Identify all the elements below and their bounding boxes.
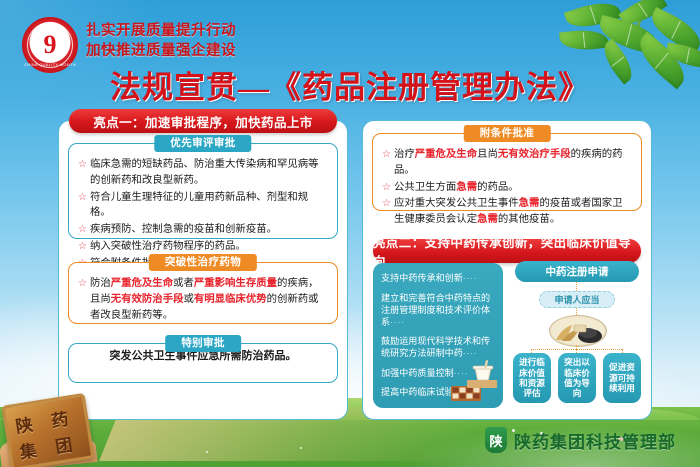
list-item: 支持中药传承和创新···· [381,272,495,285]
herbal-medicine-icon [549,315,607,347]
star-icon: ☆ [78,157,87,189]
slogan-line-1: 扎实开展质量提升行动 [86,22,236,42]
card-special-approval: 特别审批 突发公共卫生事件应急所需防治药品。 [68,343,338,383]
list-item: 建立和完善符合中药特点的注册管理制度和技术评价体系···· [381,292,495,329]
company-logo-icon: 陕 [485,427,507,453]
list-item: 鼓励运用现代科学技术和传统研究方法研制中药···· [381,335,495,360]
card-priority-review-header: 优先审评审批 [154,135,251,152]
star-icon: ☆ [382,180,391,196]
star-icon: ☆ [78,239,87,255]
list-item: ☆ 符合儿童生理特征的儿童用药新品种、剂型和规格。 [78,190,328,222]
star-icon: ☆ [78,190,87,222]
list-item-rich-text: 应对重大突发公共卫生事件急需的疫苗或者国家卫生健康委员会认定急需的其他疫苗。 [394,196,632,228]
highlight-ribbon-two: 亮点二：支持中药传承创新，突出临床价值导向 [373,239,641,263]
list-item: ☆ 临床急需的短缺药品、防治重大传染病和罕见病等的创新药和改良型新药。 [78,157,328,189]
page-title: 法规宣贯—《药品注册管理办法》 [0,62,700,107]
card-conditional-approval: 附条件批准 ☆ 治疗严重危及生命且尚无有效治疗手段的疾病的药品。 ☆ 公共卫生方… [372,133,642,211]
card-breakthrough-therapy-body: ☆ 防治严重危及生命或者严重影响生存质量的疾病，且尚无有效防治手段或有明显临床优… [69,263,337,330]
flow-leaf-sustainable-resources: 促进资源可持续利用 [603,353,641,403]
star-icon: ☆ [78,222,87,238]
list-item-text: 纳入突破性治疗药物程序的药品。 [90,239,328,255]
flow-leaf-clinical-value-oriented: 突出以临床价值为导向 [558,353,596,403]
slogan-block: 扎实开展质量提升行动 加快推进质量强企建设 [86,22,236,61]
left-panel: 亮点一：加速审批程序，加快药品上市 优先审评审批 ☆ 临床急需的短缺药品、防治重… [58,120,348,420]
list-item: ☆ 纳入突破性治疗药物程序的药品。 [78,239,328,255]
list-item-rich-text: 治疗严重危及生命且尚无有效治疗手段的疾病的药品。 [394,147,632,179]
highlight-ribbon-one-label: 亮点一：加速审批程序，加快药品上市 [93,112,312,131]
card-special-approval-header: 特别审批 [165,335,241,352]
list-item: ☆ 治疗严重危及生命且尚无有效治疗手段的疾病的药品。 [382,147,632,179]
list-item-text: 符合儿童生理特征的儿童用药新品种、剂型和规格。 [90,190,328,222]
right-panel: 附条件批准 ☆ 治疗严重危及生命且尚无有效治疗手段的疾病的药品。 ☆ 公共卫生方… [362,120,652,420]
footer-organization-name: 陕药集团科技管理部 [514,428,676,453]
card-breakthrough-therapy: 突破性治疗药物 ☆ 防治严重危及生命或者严重影响生存质量的疾病，且尚无有效防治手… [68,262,338,324]
list-item: ☆ 疾病预防、控制急需的疫苗和创新疫苗。 [78,222,328,238]
list-item: ☆ 防治严重危及生命或者严重影响生存质量的疾病，且尚无有效防治手段或有明显临床优… [78,276,328,323]
herbal-medicine-icon [449,360,499,404]
footer: 陕 陕药集团科技管理部 [485,427,676,453]
star-icon: ☆ [382,196,391,228]
wooden-seal-stamp: 陕 药 集 团 [1,393,94,467]
list-item: ☆ 公共卫生方面急需的药品。 [382,180,632,196]
card-conditional-approval-body: ☆ 治疗严重危及生命且尚无有效治疗手段的疾病的药品。 ☆ 公共卫生方面急需的药品… [373,134,641,235]
list-item: ☆ 应对重大突发公共卫生事件急需的疫苗或者国家卫生健康委员会认定急需的其他疫苗。 [382,196,632,228]
highlight-ribbon-one: 亮点一：加速审批程序，加快药品上市 [69,109,337,133]
list-item-rich-text: 防治严重危及生命或者严重影响生存质量的疾病，且尚无有效防治手段或有明显临床优势的… [90,276,328,323]
tcm-registration-flow: 中药注册申请 申请人应当 进行临床价值和资源评估 [511,261,643,411]
flow-node-registration-application: 中药注册申请 [515,261,639,282]
list-item-text: 临床急需的短缺药品、防治重大传染病和罕见病等的创新药和改良型新药。 [90,157,328,189]
card-priority-review: 优先审评审批 ☆ 临床急需的短缺药品、防治重大传染病和罕见病等的创新药和改良型新… [68,143,338,239]
list-item-text: 加强中药质量控制 [381,368,454,378]
slogan-line-2: 加快推进质量强企建设 [86,42,236,62]
list-item-text: 疾病预防、控制急需的疫苗和创新疫苗。 [90,222,328,238]
list-item-rich-text: 公共卫生方面急需的药品。 [394,180,632,196]
star-icon: ☆ [78,276,87,323]
card-conditional-approval-header: 附条件批准 [464,125,551,142]
poster-root: 9 CHINA QUALITY MONTH 扎实开展质量提升行动 加快推进质量强… [0,0,700,467]
flow-node-applicant-shall: 申请人应当 [539,291,615,308]
tcm-support-list: 支持中药传承和创新···· 建立和完善符合中药特点的注册管理制度和技术评价体系·… [373,263,503,408]
star-icon: ☆ [382,147,391,179]
flow-leaf-clinical-value-assessment: 进行临床价值和资源评估 [513,353,551,403]
list-item-text: 支持中药传承和创新 [381,273,463,283]
card-breakthrough-therapy-header: 突破性治疗药物 [149,254,257,271]
